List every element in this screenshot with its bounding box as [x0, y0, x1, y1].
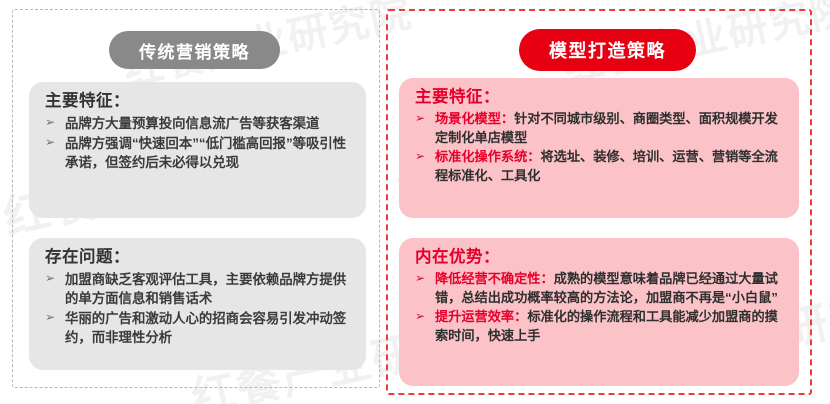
arrow-bullet-icon: ➢: [415, 110, 425, 127]
arrow-bullet-icon: ➢: [45, 309, 55, 326]
list-item: ➢ 品牌方强调“快速回本”“低门槛高回报”等吸引性承诺，但签约后未必得以兑现: [45, 134, 352, 172]
arrow-bullet-icon: ➢: [45, 270, 55, 287]
left-card-problems: 存在问题： ➢ 加盟商缺乏客观评估工具，主要依赖品牌方提供的单方面信息和销售话术…: [29, 238, 366, 370]
right-card-inner-advantages-list: ➢ 降低经营不确定性：成熟的模型意味着品牌已经通过大量试错，总结出成功概率较高的…: [415, 270, 785, 346]
right-card-main-features-title: 主要特征：: [415, 88, 785, 107]
list-item-text: 场景化模型：针对不同城市级别、商圈类型、面积规模开发定制化单店模型: [435, 110, 785, 147]
traditional-strategy-header-label: 传统营销策略: [139, 38, 250, 63]
list-item-text: 降低经营不确定性：成熟的模型意味着品牌已经通过大量试错，总结出成功概率较高的方法…: [435, 270, 785, 307]
arrow-bullet-icon: ➢: [415, 148, 425, 165]
right-card-main-features-list: ➢ 场景化模型：针对不同城市级别、商圈类型、面积规模开发定制化单店模型 ➢ 标准…: [415, 110, 785, 186]
list-item-text: 品牌方强调“快速回本”“低门槛高回报”等吸引性承诺，但签约后未必得以兑现: [65, 134, 352, 172]
right-card-inner-advantages-title: 内在优势：: [415, 248, 785, 267]
left-card-main-features-list: ➢ 品牌方大量预算投向信息流广告等获客渠道 ➢ 品牌方强调“快速回本”“低门槛高…: [45, 114, 352, 172]
right-card-main-features: 主要特征： ➢ 场景化模型：针对不同城市级别、商圈类型、面积规模开发定制化单店模…: [399, 78, 799, 218]
arrow-bullet-icon: ➢: [45, 134, 55, 151]
list-item: ➢ 加盟商缺乏客观评估工具，主要依赖品牌方提供的单方面信息和销售话术: [45, 270, 352, 308]
arrow-bullet-icon: ➢: [415, 270, 425, 287]
list-item-text: 华丽的广告和激动人心的招商会容易引发冲动签约，而非理性分析: [65, 309, 352, 347]
list-item: ➢ 降低经营不确定性：成熟的模型意味着品牌已经通过大量试错，总结出成功概率较高的…: [415, 270, 785, 307]
arrow-bullet-icon: ➢: [415, 308, 425, 325]
list-item-text: 提升运营效率：标准化的操作流程和工具能减少加盟商的摸索时间，快速上手: [435, 308, 785, 345]
model-strategy-header-label: 模型打造策略: [549, 37, 666, 63]
right-card-inner-advantages: 内在优势： ➢ 降低经营不确定性：成熟的模型意味着品牌已经通过大量试错，总结出成…: [399, 238, 799, 386]
list-item: ➢ 标准化操作系统：将选址、装修、培训、运营、营销等全流程标准化、工具化: [415, 148, 785, 185]
list-item-lead: 场景化模型：: [435, 111, 514, 126]
list-item: ➢ 华丽的广告和激动人心的招商会容易引发冲动签约，而非理性分析: [45, 309, 352, 347]
list-item-text: 标准化操作系统：将选址、装修、培训、运营、营销等全流程标准化、工具化: [435, 148, 785, 185]
list-item-lead: 降低经营不确定性：: [435, 271, 554, 286]
list-item-text: 品牌方大量预算投向信息流广告等获客渠道: [65, 114, 352, 133]
list-item: ➢ 品牌方大量预算投向信息流广告等获客渠道: [45, 114, 352, 133]
left-card-problems-title: 存在问题：: [45, 248, 352, 267]
left-card-main-features: 主要特征： ➢ 品牌方大量预算投向信息流广告等获客渠道 ➢ 品牌方强调“快速回本…: [29, 82, 366, 218]
left-card-main-features-title: 主要特征：: [45, 92, 352, 111]
list-item-lead: 提升运营效率：: [435, 309, 527, 324]
list-item: ➢ 场景化模型：针对不同城市级别、商圈类型、面积规模开发定制化单店模型: [415, 110, 785, 147]
arrow-bullet-icon: ➢: [45, 114, 55, 131]
list-item-text: 加盟商缺乏客观评估工具，主要依赖品牌方提供的单方面信息和销售话术: [65, 270, 352, 308]
traditional-strategy-header-pill: 传统营销策略: [109, 31, 280, 69]
list-item: ➢ 提升运营效率：标准化的操作流程和工具能减少加盟商的摸索时间，快速上手: [415, 308, 785, 345]
list-item-lead: 标准化操作系统：: [435, 149, 541, 164]
model-strategy-header-pill: 模型打造策略: [519, 29, 696, 71]
left-card-problems-list: ➢ 加盟商缺乏客观评估工具，主要依赖品牌方提供的单方面信息和销售话术 ➢ 华丽的…: [45, 270, 352, 347]
